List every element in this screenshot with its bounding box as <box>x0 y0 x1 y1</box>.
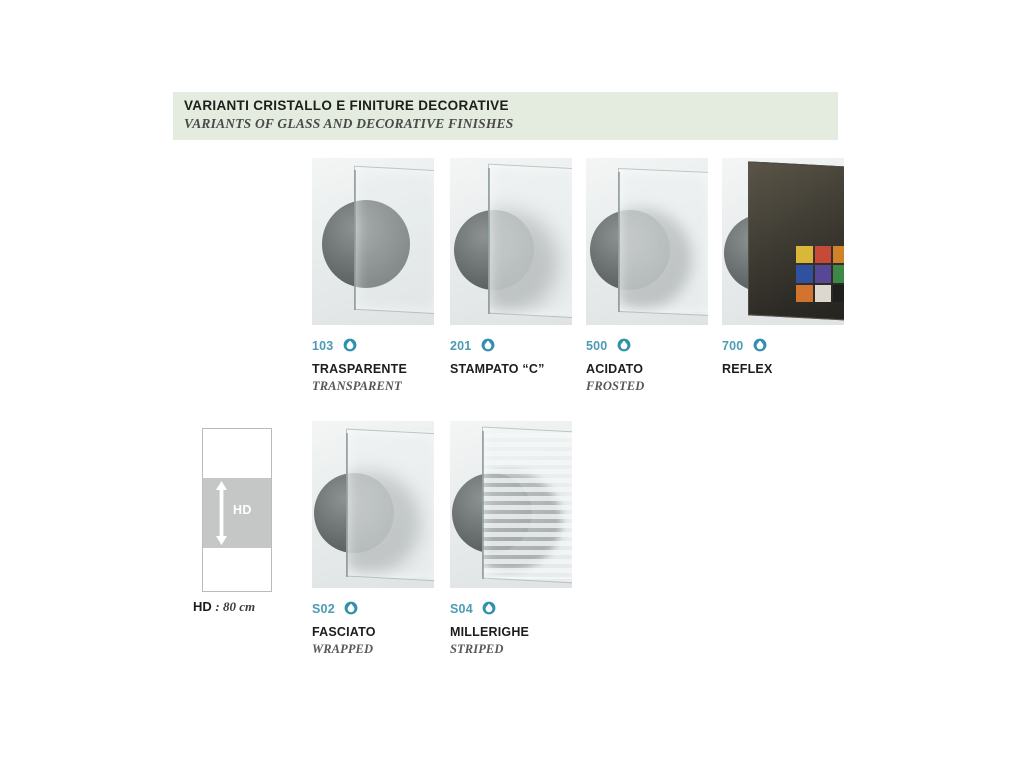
glass-pane-outline <box>346 429 434 582</box>
sample-code-line: 700 <box>722 337 844 357</box>
colour-reference-chart <box>796 246 844 302</box>
colour-swatch <box>815 246 832 263</box>
sample-code: 700 <box>722 339 743 353</box>
sample-photo-reflex <box>722 158 844 325</box>
hd-height-diagram: HD <box>202 428 272 592</box>
sample-name-italian: MILLERIGHE <box>450 625 572 639</box>
hd-caption-label: HD <box>193 599 212 614</box>
section-header-band: VARIANTI CRISTALLO E FINITURE DECORATIVE… <box>173 92 838 140</box>
glass-pane-edge <box>488 168 490 314</box>
drop-icon <box>617 338 631 352</box>
drop-icon <box>753 338 767 352</box>
glass-pane-edge <box>354 170 356 310</box>
sample-code-line: 500 <box>586 337 708 357</box>
sample-name-english: TRANSPARENT <box>312 379 434 394</box>
sample-name-italian: FASCIATO <box>312 625 434 639</box>
glass-pane-edge <box>618 172 620 312</box>
sample-photo-millerighe <box>450 421 572 588</box>
sample-card-500[interactable]: 500 ACIDATO FROSTED <box>586 158 708 394</box>
hd-label: HD <box>233 503 252 517</box>
sample-name-english: WRAPPED <box>312 642 434 657</box>
sample-photo-trasparente <box>312 158 434 325</box>
glass-pane-outline <box>482 426 572 583</box>
colour-swatch <box>833 246 844 263</box>
sample-code: 201 <box>450 339 471 353</box>
hd-caption-value: : 80 cm <box>215 599 255 614</box>
hd-double-arrow-icon <box>215 481 228 545</box>
sample-card-s02[interactable]: S02 FASCIATO WRAPPED <box>312 421 434 657</box>
sample-code: 500 <box>586 339 607 353</box>
sample-photo-fasciato <box>312 421 434 588</box>
sample-name-italian: REFLEX <box>722 362 844 376</box>
glass-pane-outline <box>618 168 708 316</box>
hd-caption: HD : 80 cm <box>193 599 255 615</box>
drop-icon <box>344 601 358 615</box>
glass-pane-edge <box>346 433 348 577</box>
sample-card-700[interactable]: 700 REFLEX <box>722 158 844 379</box>
colour-swatch <box>796 265 813 282</box>
sample-card-s04[interactable]: S04 MILLERIGHE STRIPED <box>450 421 572 657</box>
sample-code-line: 103 <box>312 337 434 357</box>
colour-swatch <box>833 285 844 302</box>
sample-card-201[interactable]: 201 STAMPATO “C” <box>450 158 572 379</box>
sample-name-italian: ACIDATO <box>586 362 708 376</box>
sample-photo-acidato <box>586 158 708 325</box>
colour-swatch <box>796 246 813 263</box>
glass-pane-clear <box>354 166 434 315</box>
section-title-italian: VARIANTI CRISTALLO E FINITURE DECORATIVE <box>184 98 509 113</box>
sample-code: S02 <box>312 602 335 616</box>
colour-swatch <box>833 265 844 282</box>
sample-code-line: S02 <box>312 600 434 620</box>
drop-icon <box>343 338 357 352</box>
colour-swatch <box>796 285 813 302</box>
sample-name-english: FROSTED <box>586 379 708 394</box>
sample-name-english: STRIPED <box>450 642 572 657</box>
drop-icon <box>482 601 496 615</box>
section-title-english: VARIANTS OF GLASS AND DECORATIVE FINISHE… <box>184 116 513 132</box>
glass-pane-outline <box>488 164 572 319</box>
colour-swatch <box>815 285 832 302</box>
sample-photo-stampato-c <box>450 158 572 325</box>
sample-code-line: S04 <box>450 600 572 620</box>
sample-name-italian: STAMPATO “C” <box>450 362 572 376</box>
sample-code-line: 201 <box>450 337 572 357</box>
sample-name-italian: TRASPARENTE <box>312 362 434 376</box>
sample-code: 103 <box>312 339 333 353</box>
sample-card-103[interactable]: 103 TRASPARENTE TRANSPARENT <box>312 158 434 394</box>
drop-icon <box>481 338 495 352</box>
glass-pane-edge <box>482 431 484 579</box>
colour-swatch <box>815 265 832 282</box>
sample-code: S04 <box>450 602 473 616</box>
